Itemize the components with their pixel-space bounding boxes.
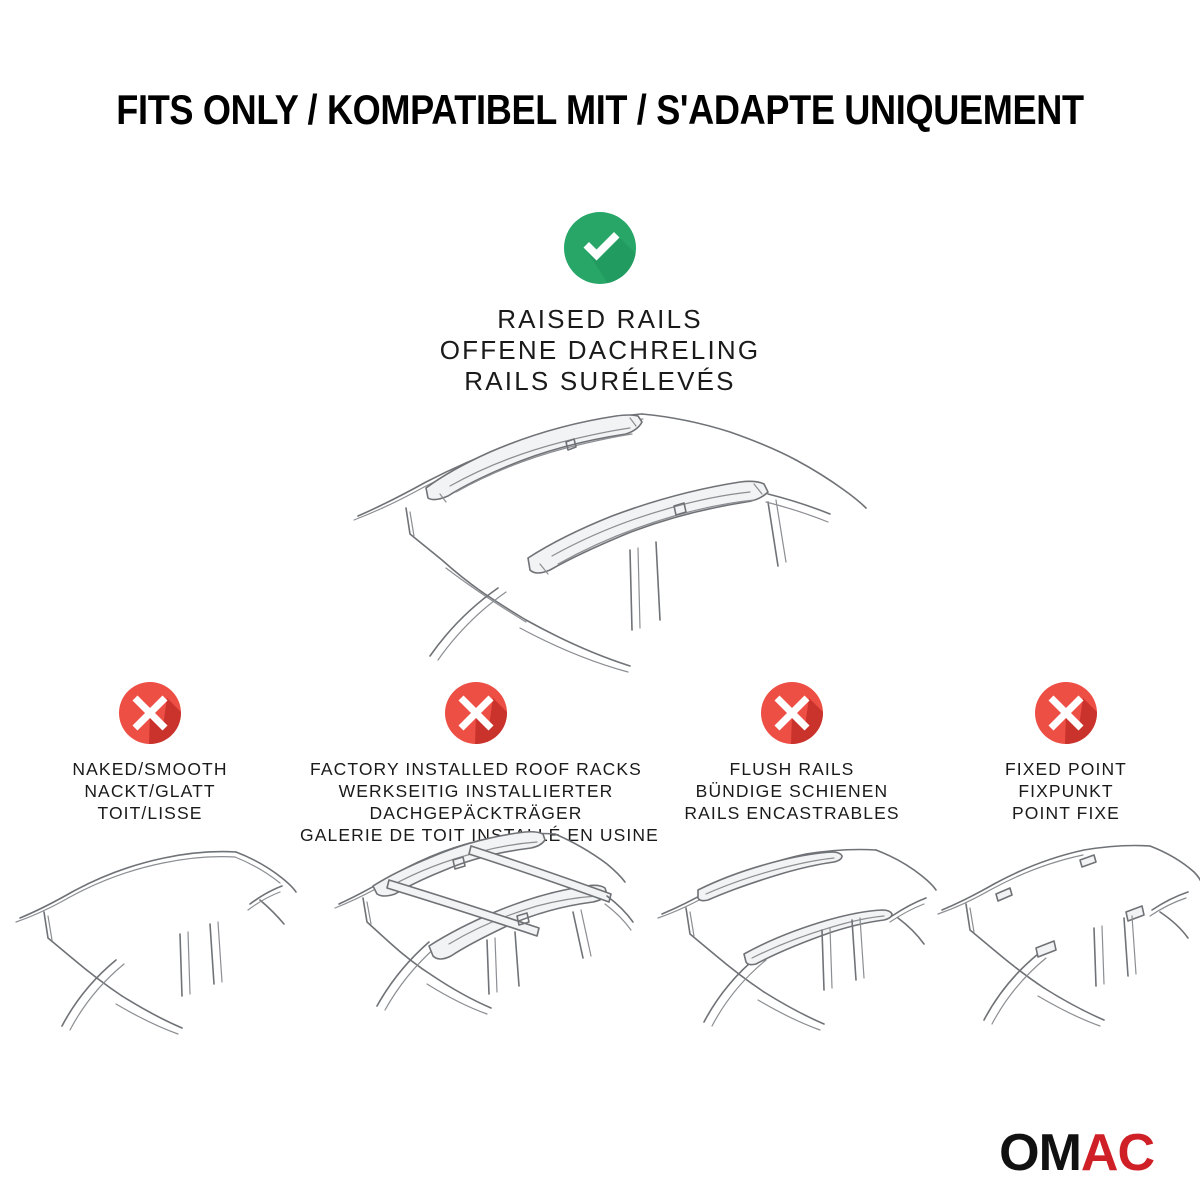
rejected-label-line3: TOIT/LISSE	[0, 802, 300, 824]
car-roof-factory-roof-racks-illustration	[311, 816, 641, 1016]
rejected-column-naked-smooth: NAKED/SMOOTH NACKT/GLATT TOIT/LISSE	[0, 682, 300, 846]
rejected-label-line1: FIXED POINT	[932, 758, 1200, 780]
x-circle-icon	[119, 682, 181, 744]
logo-text-red: AC	[1081, 1124, 1154, 1182]
rejected-label-line1: FACTORY INSTALLED ROOF RACKS	[300, 758, 652, 780]
approved-section: RAISED RAILS OFFENE DACHRELING RAILS SUR…	[0, 212, 1200, 397]
rejected-column-factory-roof-racks: FACTORY INSTALLED ROOF RACKS WERKSEITIG …	[300, 682, 652, 846]
rejected-columns: NAKED/SMOOTH NACKT/GLATT TOIT/LISSE	[0, 682, 1200, 846]
check-circle-icon	[564, 212, 636, 284]
approved-label-stack: RAISED RAILS OFFENE DACHRELING RAILS SUR…	[0, 304, 1200, 397]
approved-badge-wrap	[0, 212, 1200, 284]
car-roof-naked-smooth-illustration	[4, 838, 296, 1028]
rejected-label-line2: BÜNDIGE SCHIENEN	[652, 780, 932, 802]
car-roof-fixed-point-illustration	[930, 838, 1200, 1024]
rejected-column-flush-rails: FLUSH RAILS BÜNDIGE SCHIENEN RAILS ENCAS…	[652, 682, 932, 846]
rejected-label-line1: NAKED/SMOOTH	[0, 758, 300, 780]
x-circle-icon	[761, 682, 823, 744]
x-circle-icon	[1035, 682, 1097, 744]
rejected-label-stack: FLUSH RAILS BÜNDIGE SCHIENEN RAILS ENCAS…	[652, 758, 932, 824]
rejected-label-line2: WERKSEITIG INSTALLIERTER	[300, 780, 652, 802]
logo-text-dark: OM	[999, 1124, 1081, 1182]
car-roof-raised-rails-illustration	[330, 398, 878, 670]
rejected-label-line2: FIXPUNKT	[932, 780, 1200, 802]
approved-label-en: RAISED RAILS	[0, 304, 1200, 335]
rejected-label-stack: NAKED/SMOOTH NACKT/GLATT TOIT/LISSE	[0, 758, 300, 824]
approved-label-de: OFFENE DACHRELING	[0, 335, 1200, 366]
rejected-label-line2: NACKT/GLATT	[0, 780, 300, 802]
approved-label-fr: RAILS SURÉLEVÉS	[0, 366, 1200, 397]
car-roof-flush-rails-illustration	[646, 838, 938, 1026]
rejected-label-line3: RAILS ENCASTRABLES	[652, 802, 932, 824]
compatibility-infographic: FITS ONLY / KOMPATIBEL MIT / S'ADAPTE UN…	[0, 0, 1200, 1200]
page-title: FITS ONLY / KOMPATIBEL MIT / S'ADAPTE UN…	[84, 86, 1116, 134]
rejected-column-fixed-point: FIXED POINT FIXPUNKT POINT FIXE	[932, 682, 1200, 846]
rejected-label-line1: FLUSH RAILS	[652, 758, 932, 780]
x-circle-icon	[445, 682, 507, 744]
rejected-label-line3: POINT FIXE	[932, 802, 1200, 824]
rejected-label-stack: FIXED POINT FIXPUNKT POINT FIXE	[932, 758, 1200, 824]
omac-logo: OMAC	[999, 1124, 1154, 1182]
